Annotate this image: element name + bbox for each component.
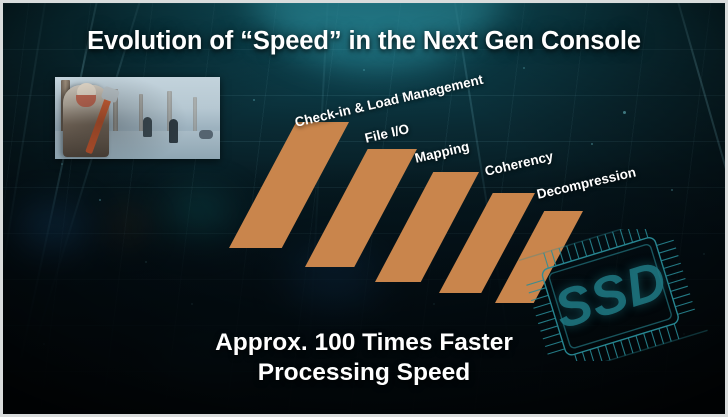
- headline-line-2: Processing Speed: [3, 358, 725, 388]
- arrow-label-0: Check-in & Load Management: [293, 72, 484, 130]
- bottom-headline: Approx. 100 Times Faster Processing Spee…: [3, 328, 725, 388]
- slide-canvas: Evolution of “Speed” in the Next Gen Con…: [0, 0, 728, 417]
- arrow-label-4: Decompression: [535, 164, 637, 201]
- arrow-label-1: File I/O: [363, 121, 410, 146]
- arrow-label-3: Coherency: [483, 148, 554, 178]
- headline-line-1: Approx. 100 Times Faster: [3, 328, 725, 358]
- arrow-label-2: Mapping: [413, 139, 470, 166]
